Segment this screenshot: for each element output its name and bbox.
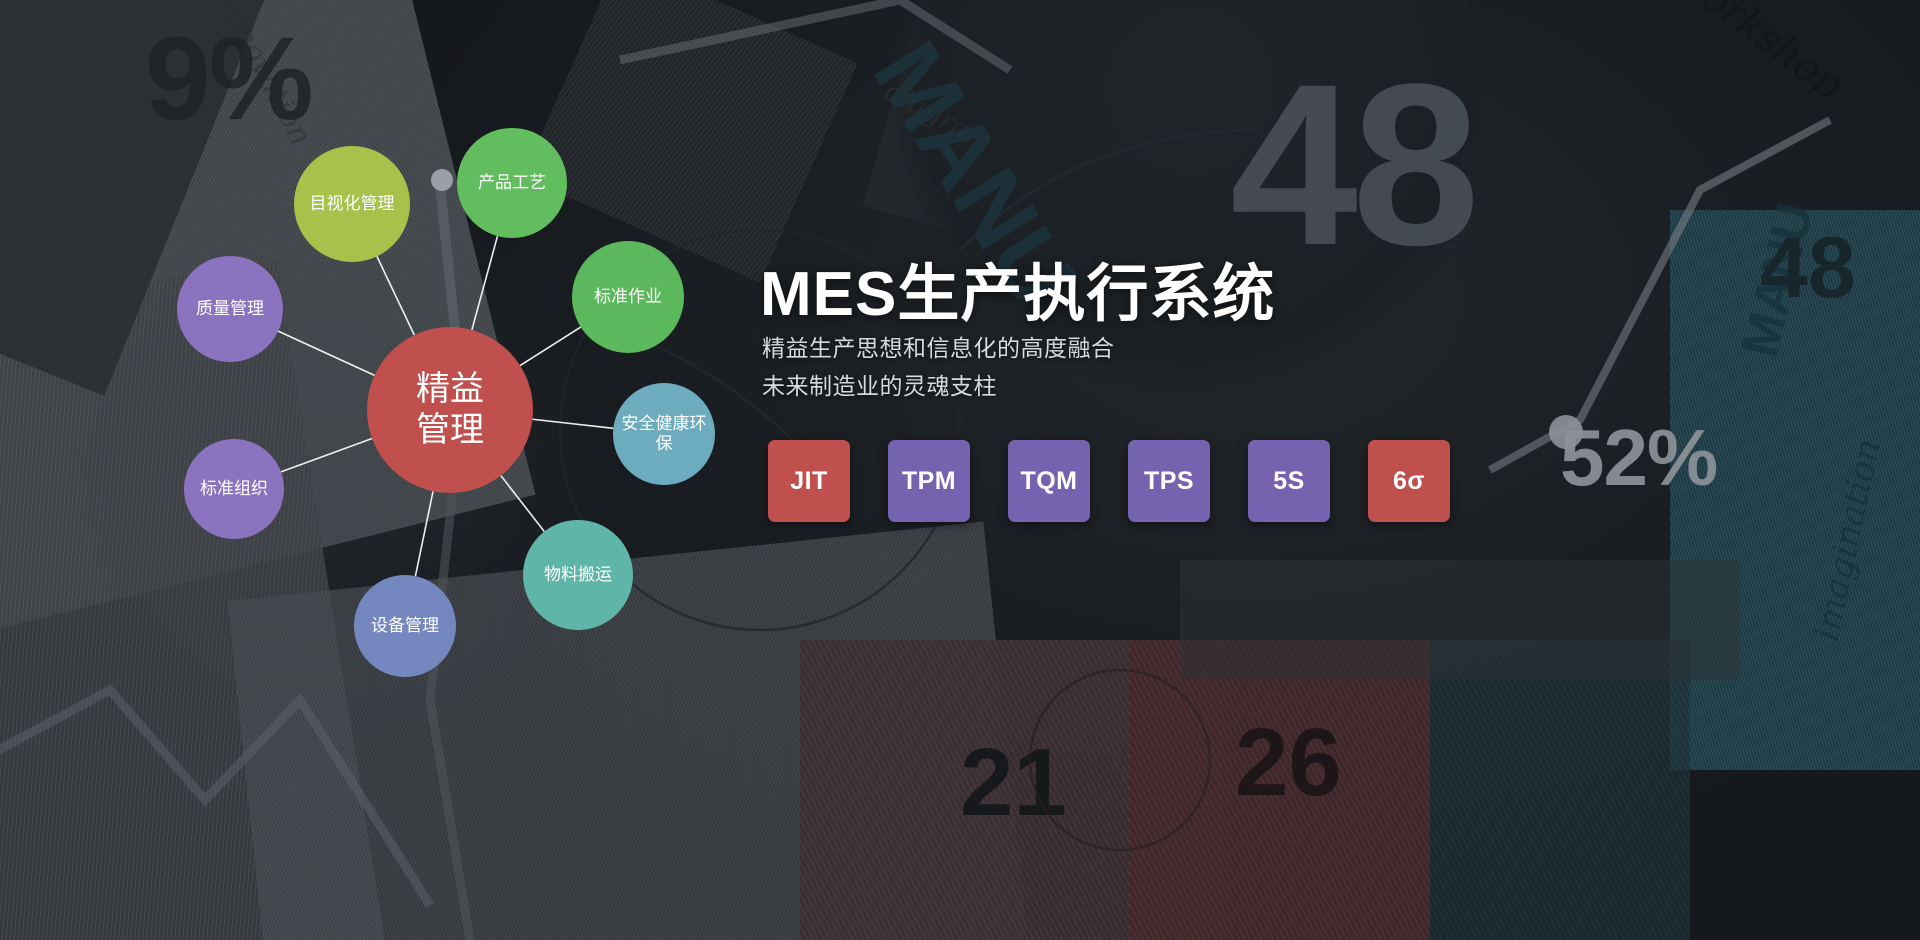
bubble-node-7[interactable]: 标准组织	[184, 439, 284, 539]
bubble-label: 设备管理	[371, 616, 439, 636]
bubble-label: 标准组织	[200, 479, 268, 499]
tag-tqm[interactable]: TQM	[1008, 440, 1090, 522]
subtitle-line-2: 未来制造业的灵魂支柱	[762, 367, 997, 401]
tag-5s[interactable]: 5S	[1248, 440, 1330, 522]
bubble-node-4[interactable]: 安全健康环保	[613, 383, 715, 485]
tag-jit[interactable]: JIT	[768, 440, 850, 522]
tag-tpm[interactable]: TPM	[888, 440, 970, 522]
bubble-label: 产品工艺	[478, 173, 546, 193]
tag-6σ[interactable]: 6σ	[1368, 440, 1450, 522]
tag-tps[interactable]: TPS	[1128, 440, 1210, 522]
bubble-label-line-2: 管理	[416, 410, 484, 451]
hero-content: MES生产执行系统 精益生产思想和信息化的高度融合 未来制造业的灵魂支柱 JIT…	[760, 0, 1920, 940]
bubble-node-5[interactable]: 物料搬运	[523, 520, 633, 630]
hero-banner: MANU MANU workshop innovation diagram im…	[0, 0, 1920, 940]
bubble-label: 目视化管理	[306, 194, 399, 214]
pin-dot-icon	[431, 169, 453, 191]
bubble-label: 安全健康环保	[613, 414, 715, 455]
bubble-node-1[interactable]: 目视化管理	[294, 146, 410, 262]
bubble-node-3[interactable]: 标准作业	[572, 241, 684, 353]
bubble-center-lean-management[interactable]: 精益管理	[367, 327, 533, 493]
bubble-label: 标准作业	[594, 287, 662, 307]
bubble-label: 质量管理	[196, 299, 264, 319]
bubble-node-2[interactable]: 产品工艺	[457, 128, 567, 238]
page-title: MES生产执行系统	[760, 243, 1275, 333]
bubble-node-6[interactable]: 设备管理	[354, 575, 456, 677]
methodology-tag-list: JITTPMTQMTPS5S6σ	[768, 440, 1450, 522]
bubble-node-8[interactable]: 质量管理	[177, 256, 283, 362]
subtitle-line-1: 精益生产思想和信息化的高度融合	[762, 329, 1115, 363]
bubble-label: 物料搬运	[544, 565, 612, 585]
bubble-label-line-1: 精益	[416, 369, 484, 410]
